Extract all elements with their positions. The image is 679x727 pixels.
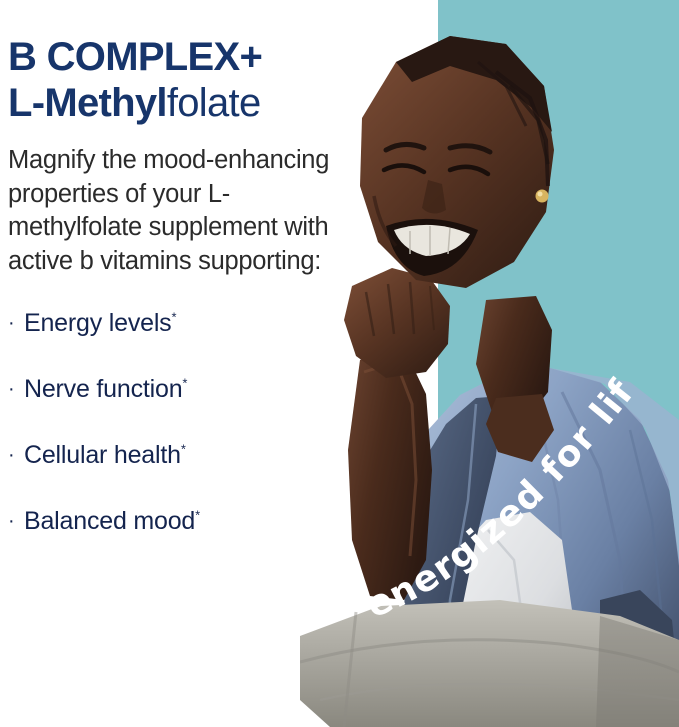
footnote-asterisk: * [182,376,187,391]
page-title: B COMPLEX+ L-Methylfolate [8,34,368,126]
list-item: · Nerve function* [8,374,368,404]
benefit-label: Balanced mood* [24,506,200,536]
earring-stud [536,190,549,203]
benefit-label: Nerve function* [24,374,187,404]
bullet-dot-icon: · [8,440,24,470]
benefit-text: Energy levels [24,309,171,337]
footnote-asterisk: * [181,442,186,457]
footnote-asterisk: * [195,508,200,523]
benefit-label: Energy levels* [24,308,176,338]
headline-line-2: L-Methylfolate [8,80,368,126]
headline-line-2-bold: L-Methyl [8,81,167,125]
bullet-dot-icon: · [8,308,24,338]
earring-highlight [538,192,543,197]
benefit-text: Nerve function [24,375,182,403]
benefit-label: Cellular health* [24,440,186,470]
headline-line-1: B COMPLEX+ [8,34,368,80]
body-copy: Magnify the mood-enhancing properties of… [8,144,348,278]
headline-line-2-light: folate [167,81,261,125]
product-marketing-banner: energized for life. B COMPLEX+ L-Methylf… [0,0,679,727]
benefits-list: · Energy levels* · Nerve function* · Cel… [8,308,368,536]
footnote-asterisk: * [171,310,176,325]
list-item: · Cellular health* [8,440,368,470]
bullet-dot-icon: · [8,506,24,536]
benefit-text: Cellular health [24,441,181,469]
copy-column: B COMPLEX+ L-Methylfolate Magnify the mo… [8,34,368,572]
bullet-dot-icon: · [8,374,24,404]
benefit-text: Balanced mood [24,507,195,535]
list-item: · Balanced mood* [8,506,368,536]
list-item: · Energy levels* [8,308,368,338]
